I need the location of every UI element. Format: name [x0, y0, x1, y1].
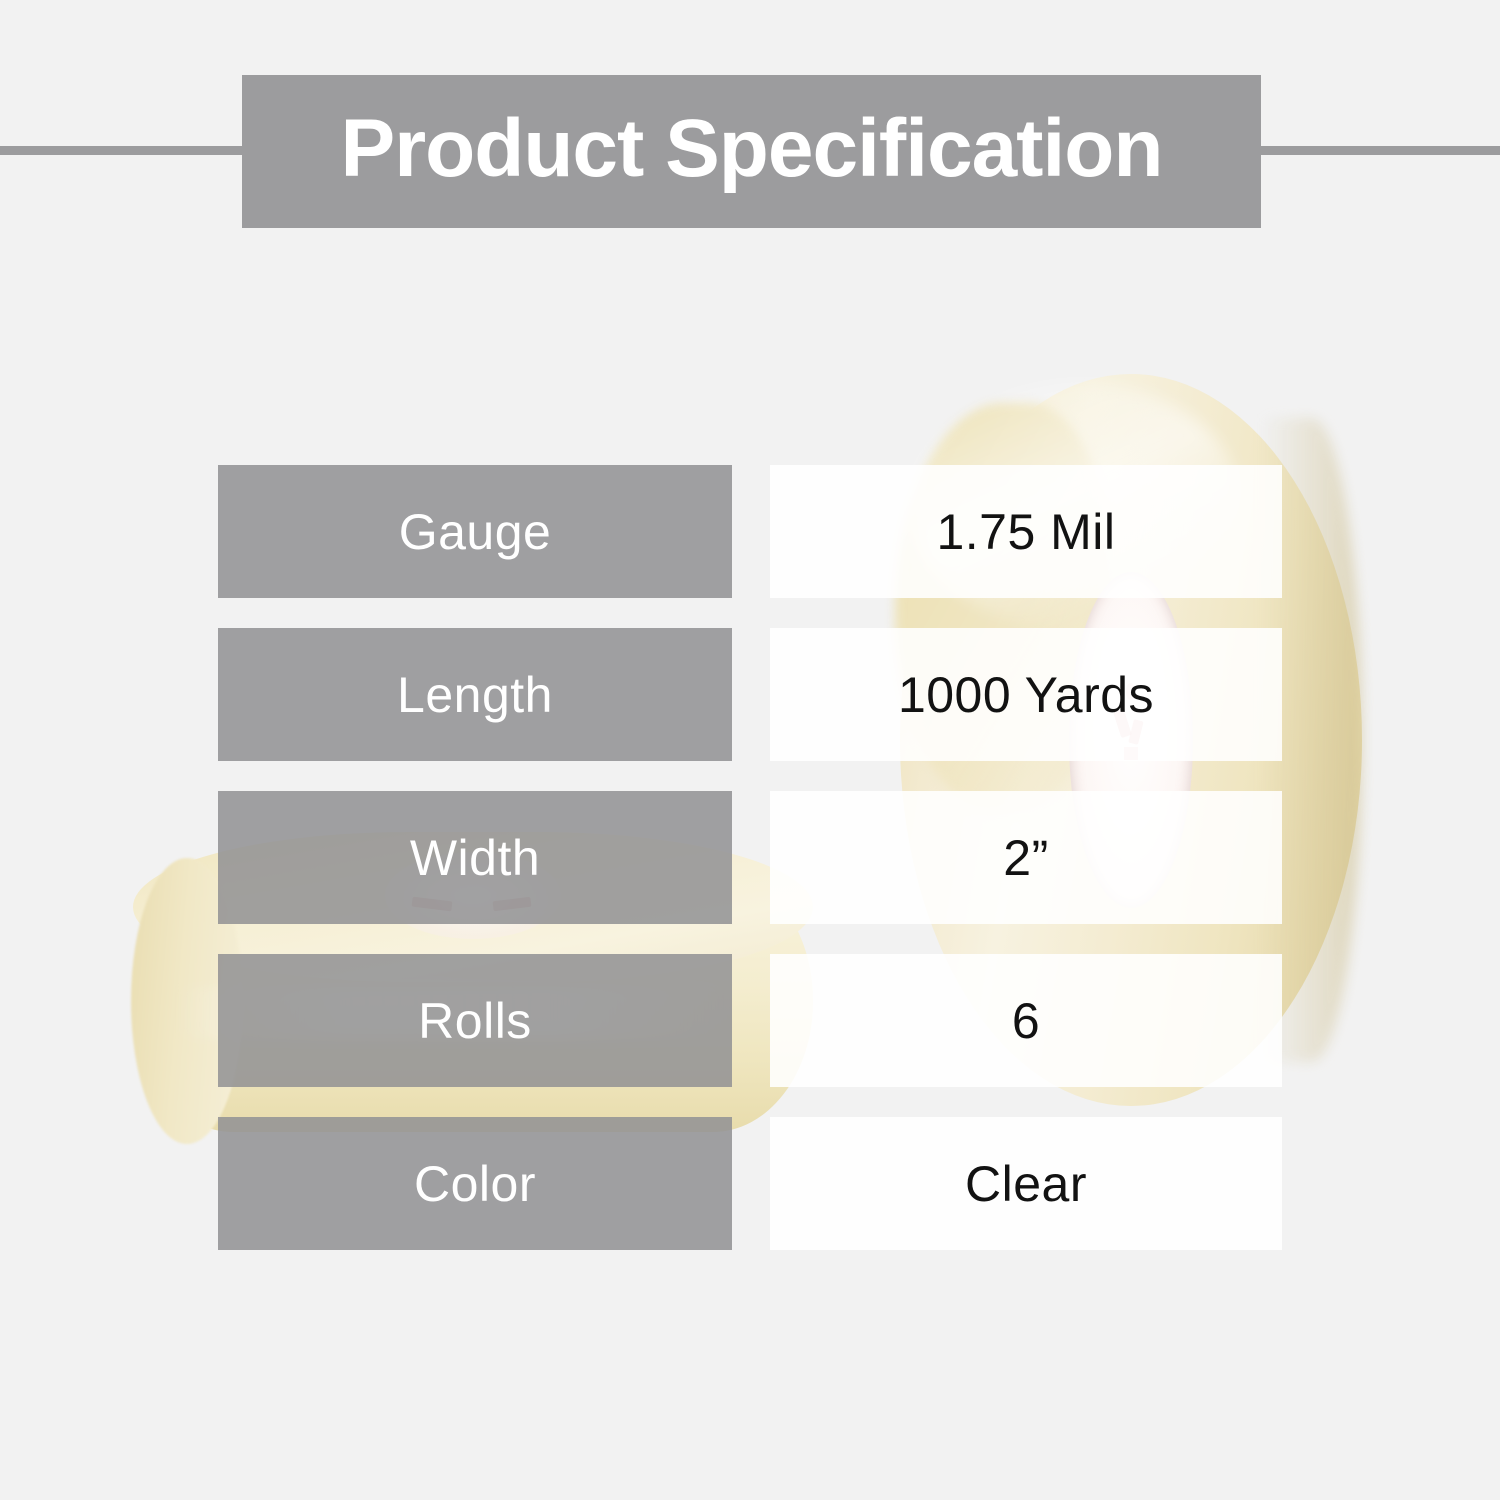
spec-value-rolls: 6 — [770, 954, 1282, 1087]
spec-value-length: 1000 Yards — [770, 628, 1282, 761]
spec-value-text: 1000 Yards — [898, 670, 1154, 720]
spec-label-rolls: Rolls — [218, 954, 732, 1087]
table-row: Rolls 6 — [218, 954, 1282, 1087]
table-row: Length 1000 Yards — [218, 628, 1282, 761]
table-row: Width 2” — [218, 791, 1282, 924]
spec-label-text: Color — [414, 1159, 536, 1209]
spec-value-color: Clear — [770, 1117, 1282, 1250]
spec-label-text: Rolls — [418, 996, 532, 1046]
header-banner: Product Specification — [242, 75, 1261, 228]
spec-label-text: Length — [397, 670, 553, 720]
spec-value-text: 2” — [1003, 833, 1048, 883]
spec-label-text: Width — [410, 833, 540, 883]
spec-value-gauge: 1.75 Mil — [770, 465, 1282, 598]
spec-label-color: Color — [218, 1117, 732, 1250]
spec-value-width: 2” — [770, 791, 1282, 924]
spec-label-width: Width — [218, 791, 732, 924]
spec-label-text: Gauge — [399, 507, 552, 557]
page-title: Product Specification — [341, 108, 1163, 196]
product-specification-page: Product Specification — [0, 0, 1500, 1500]
spec-label-length: Length — [218, 628, 732, 761]
spec-value-text: 1.75 Mil — [936, 507, 1115, 557]
spec-value-text: Clear — [965, 1159, 1087, 1209]
specification-table: Gauge 1.75 Mil Length 1000 Yards Width 2… — [218, 465, 1282, 1250]
table-row: Gauge 1.75 Mil — [218, 465, 1282, 598]
table-row: Color Clear — [218, 1117, 1282, 1250]
spec-value-text: 6 — [1012, 996, 1040, 1046]
spec-label-gauge: Gauge — [218, 465, 732, 598]
